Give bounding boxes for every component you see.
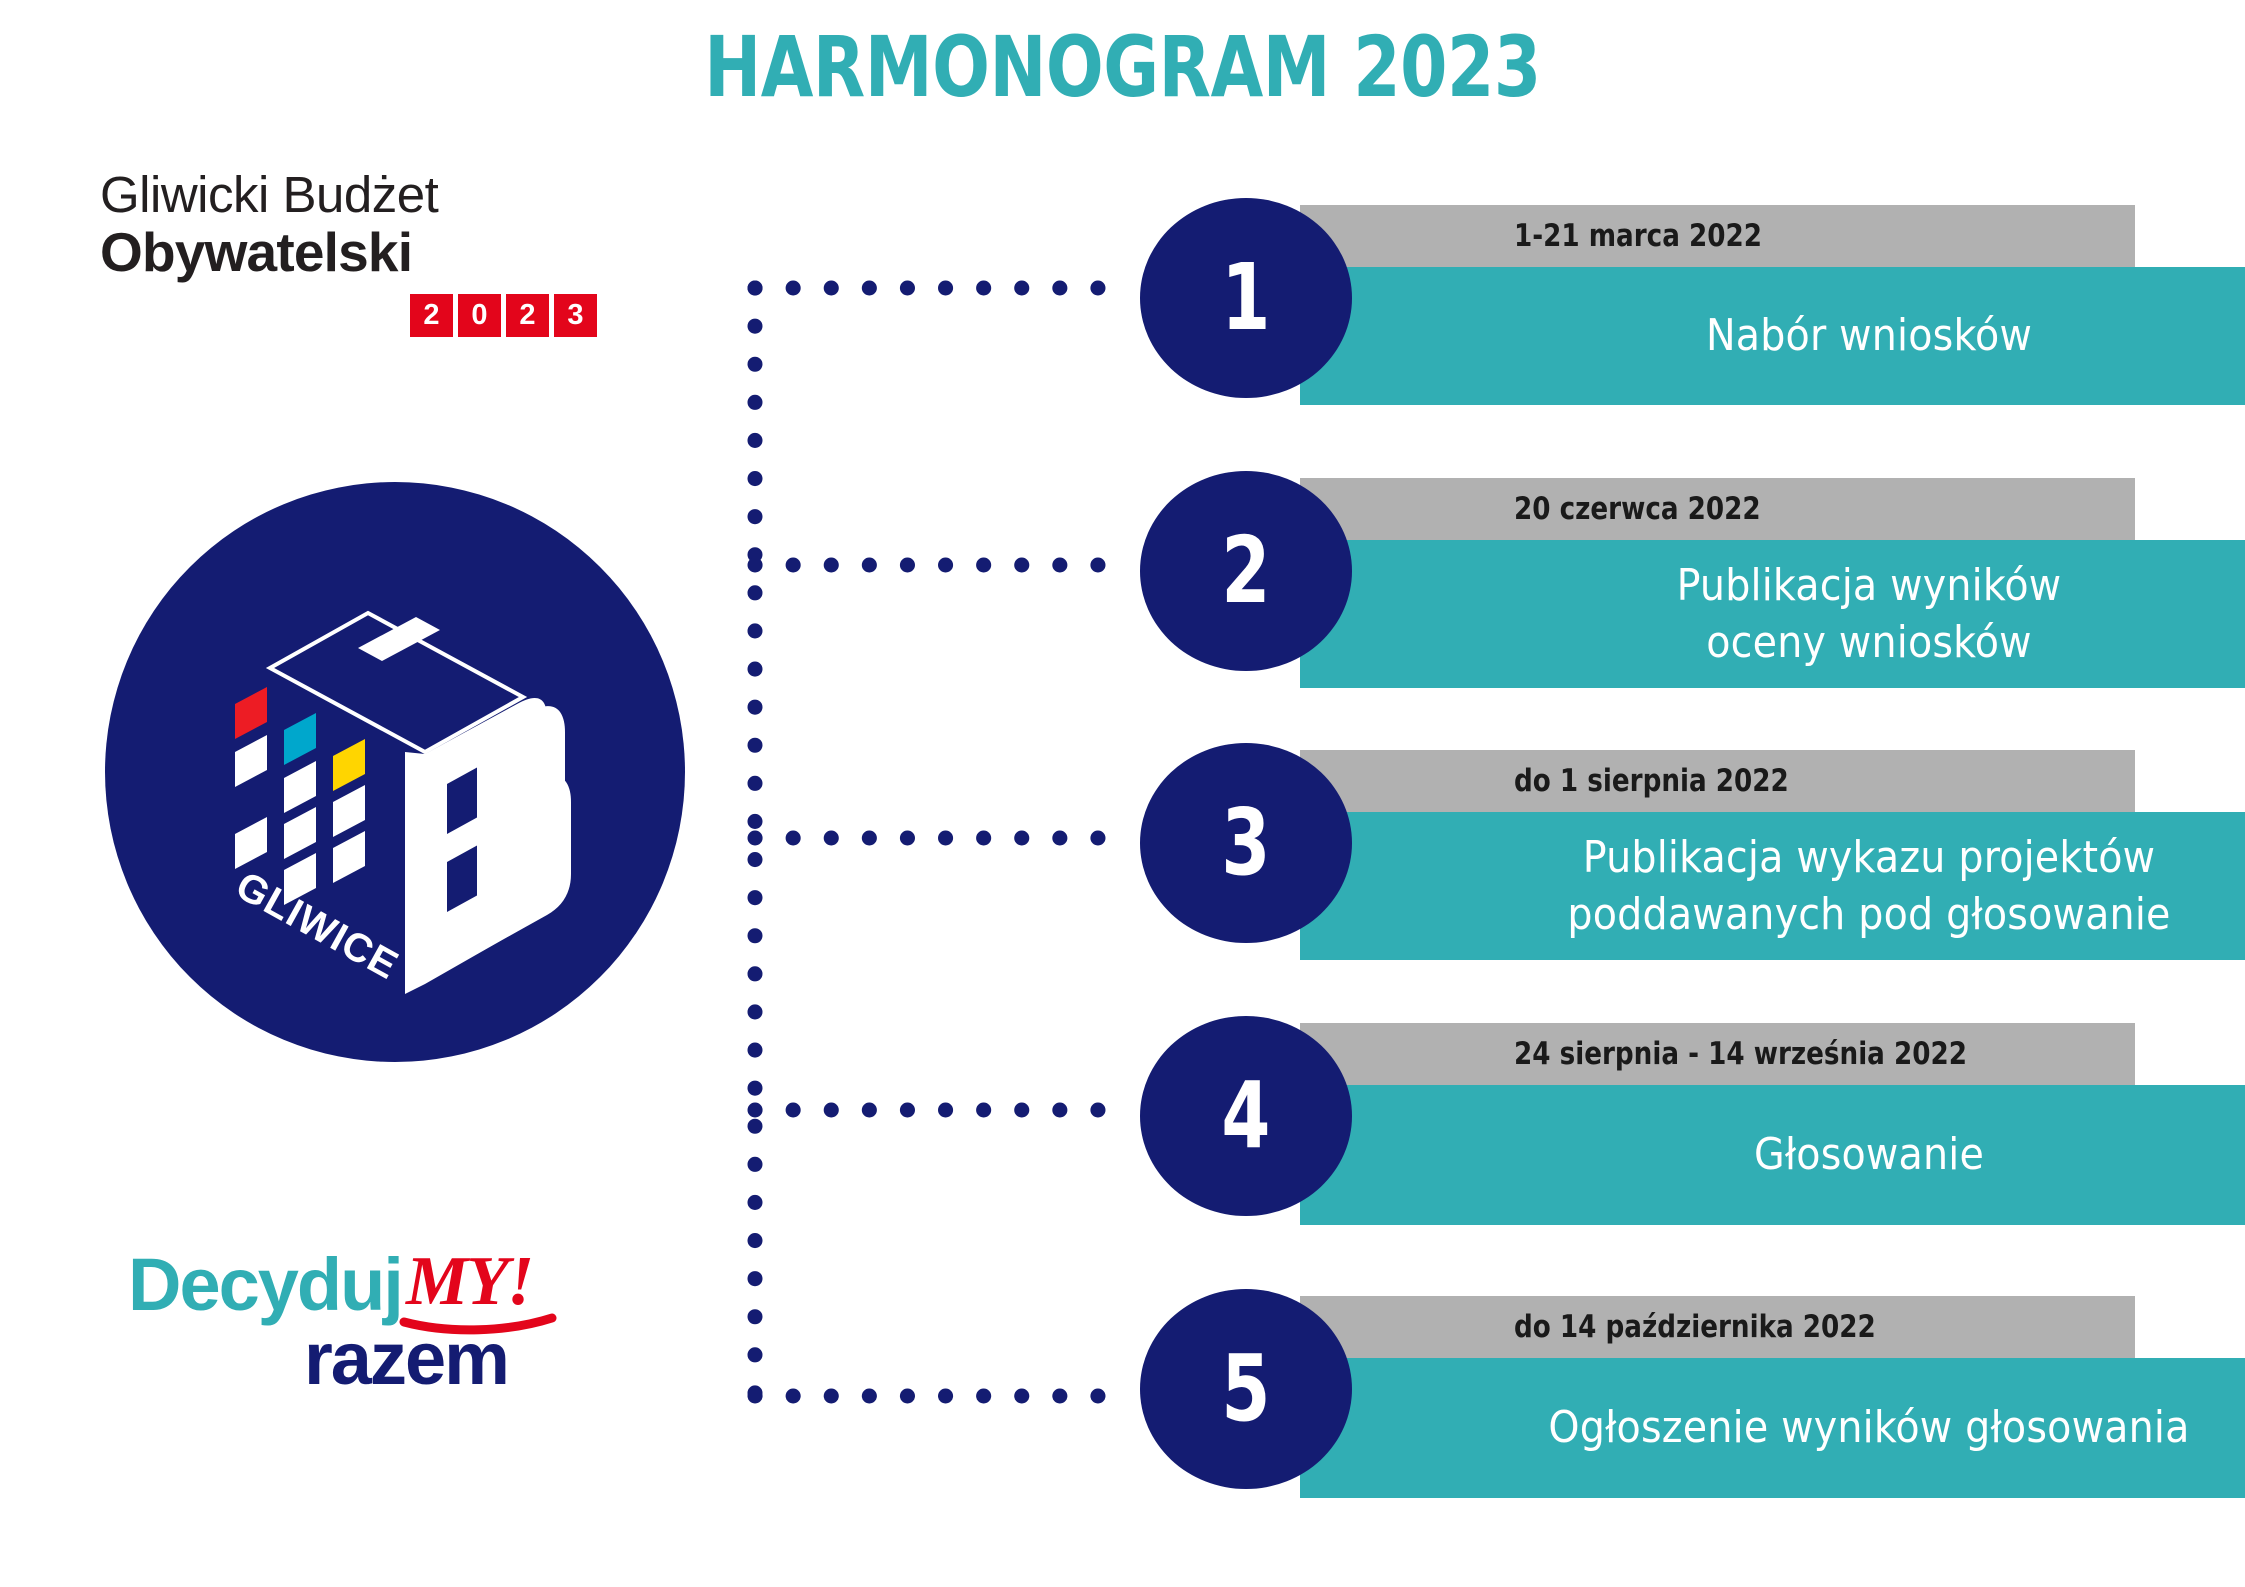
step-4-date: 24 sierpnia - 14 września 2022 [1514, 1023, 1967, 1085]
step-3-number: 3 [1222, 797, 1271, 889]
step-2-content-bar: Publikacja wyników oceny wniosków [1300, 540, 2245, 688]
step-4-number: 4 [1222, 1070, 1271, 1162]
step-1-date-bar: 1-21 marca 2022 [1300, 205, 2135, 267]
step-4-content-bar: Głosowanie [1300, 1085, 2245, 1225]
step-3-badge[interactable]: 3 [1140, 743, 1352, 943]
step-5-badge[interactable]: 5 [1140, 1289, 1352, 1489]
step-4-date-bar: 24 sierpnia - 14 września 2022 [1300, 1023, 2135, 1085]
step-5-date: do 14 października 2022 [1514, 1296, 1876, 1358]
step-5-content-bar: Ogłoszenie wyników głosowania [1300, 1358, 2245, 1498]
step-2-number: 2 [1222, 525, 1271, 617]
step-2-date: 20 czerwca 2022 [1514, 478, 1761, 540]
step-3-label: Publikacja wykazu projektów poddawanych … [1397, 829, 2194, 943]
timeline: 1-21 marca 2022 Nabór wniosków 1 20 czer… [0, 0, 2245, 1587]
step-5-label: Ogłoszenie wyników głosowania [1378, 1399, 2213, 1456]
step-5-number: 5 [1222, 1343, 1271, 1435]
step-3-date-bar: do 1 sierpnia 2022 [1300, 750, 2135, 812]
step-5-date-bar: do 14 października 2022 [1300, 1296, 2135, 1358]
step-1-number: 1 [1222, 252, 1271, 344]
step-2-label: Publikacja wyników oceny wniosków [1507, 557, 2086, 671]
step-3-content-bar: Publikacja wykazu projektów poddawanych … [1300, 812, 2245, 960]
step-1-label: Nabór wniosków [1536, 307, 2056, 364]
step-2-badge[interactable]: 2 [1140, 471, 1352, 671]
step-3-date: do 1 sierpnia 2022 [1514, 750, 1789, 812]
step-4-badge[interactable]: 4 [1140, 1016, 1352, 1216]
step-1-content-bar: Nabór wniosków [1300, 267, 2245, 405]
step-2-date-bar: 20 czerwca 2022 [1300, 478, 2135, 540]
step-1-date: 1-21 marca 2022 [1514, 205, 1762, 267]
step-1-badge[interactable]: 1 [1140, 198, 1352, 398]
step-4-label: Głosowanie [1584, 1126, 2008, 1183]
